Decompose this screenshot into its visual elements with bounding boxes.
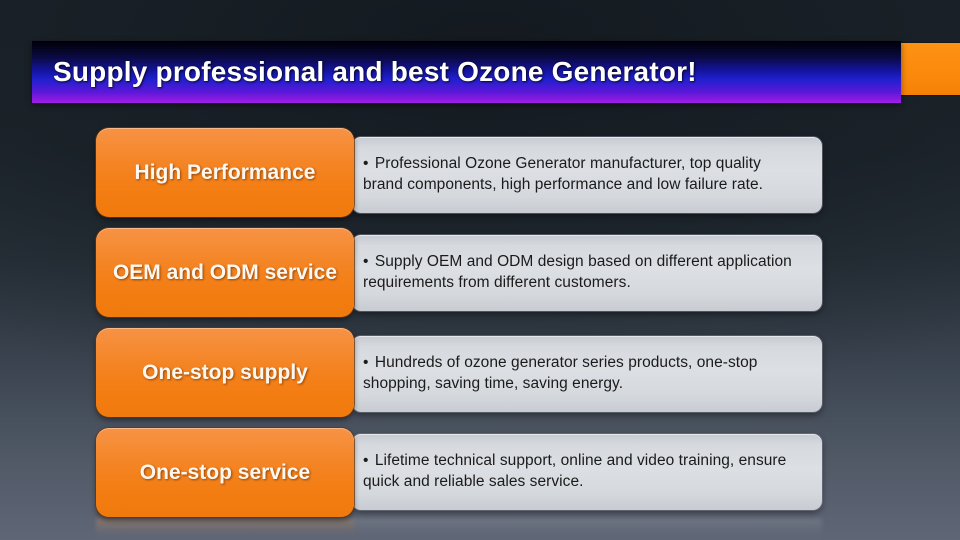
decorative-orange-tab xyxy=(901,43,960,95)
feature-label-text: High Performance xyxy=(127,160,324,186)
feature-description-text: Supply OEM and ODM design based on diffe… xyxy=(363,253,792,291)
feature-description-text: Hundreds of ozone generator series produ… xyxy=(363,354,757,392)
feature-description-wrapper: • Supply OEM and ODM design based on dif… xyxy=(352,252,822,293)
feature-label-box-3[interactable]: One-stop supply xyxy=(96,328,354,417)
feature-description-box-1[interactable]: • Professional Ozone Generator manufactu… xyxy=(352,137,822,213)
feature-description-box-2[interactable]: • Supply OEM and ODM design based on dif… xyxy=(352,235,822,311)
feature-description-box-3[interactable]: • Hundreds of ozone generator series pro… xyxy=(352,336,822,412)
feature-description-box-4[interactable]: • Lifetime technical support, online and… xyxy=(352,434,822,510)
feature-description-text: Professional Ozone Generator manufacture… xyxy=(363,155,763,193)
reflection-glow-orange xyxy=(96,518,354,538)
feature-label-box-4[interactable]: One-stop service xyxy=(96,428,354,517)
title-banner: Supply professional and best Ozone Gener… xyxy=(32,41,901,103)
feature-description-wrapper: • Hundreds of ozone generator series pro… xyxy=(352,353,822,394)
feature-label-text: One-stop supply xyxy=(134,360,316,386)
feature-description-wrapper: • Professional Ozone Generator manufactu… xyxy=(352,154,822,195)
feature-label-text: One-stop service xyxy=(132,460,318,486)
feature-label-box-1[interactable]: High Performance xyxy=(96,128,354,217)
bullet-icon: • xyxy=(363,154,368,175)
page-title: Supply professional and best Ozone Gener… xyxy=(53,56,697,88)
bullet-icon: • xyxy=(363,353,368,374)
feature-label-box-2[interactable]: OEM and ODM service xyxy=(96,228,354,317)
feature-label-text: OEM and ODM service xyxy=(105,260,345,286)
feature-description-text: Lifetime technical support, online and v… xyxy=(363,452,786,490)
bullet-icon: • xyxy=(363,252,368,273)
slide-canvas: Supply professional and best Ozone Gener… xyxy=(0,0,960,540)
feature-description-wrapper: • Lifetime technical support, online and… xyxy=(352,451,822,492)
bullet-icon: • xyxy=(363,451,368,472)
